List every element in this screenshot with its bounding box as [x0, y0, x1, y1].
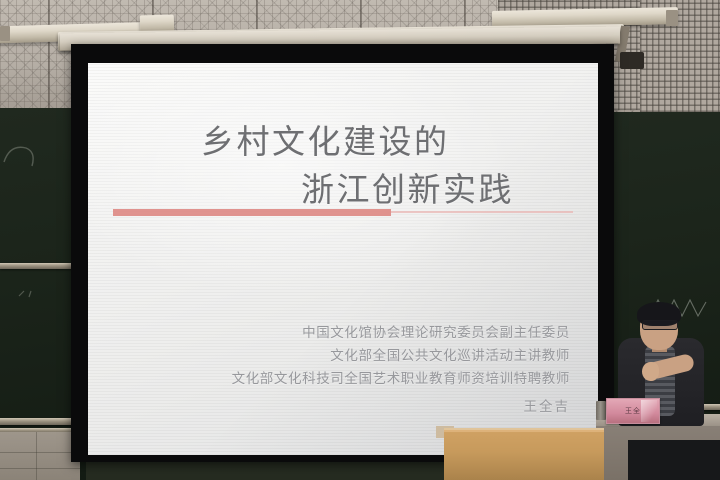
ceiling-seam — [48, 0, 50, 118]
slide-presenter-name: 王全吉 — [524, 395, 571, 415]
speaker-hand — [642, 362, 659, 381]
light-fixture-endcap — [666, 10, 678, 26]
speaker-glasses — [642, 320, 678, 330]
projector-body — [620, 52, 644, 69]
floor-tile-seam — [0, 452, 80, 453]
slide-subtitle-line-2: 文化部全国公共文化巡讲活动主讲教师 — [330, 344, 570, 364]
floor-tile-seam — [0, 468, 80, 469]
title-accent-rule — [391, 211, 573, 213]
placard-glare — [641, 400, 657, 422]
slide-subtitle-line-3: 文化部文化科技司全国艺术职业教育师资培训特聘教师 — [232, 367, 570, 387]
floor-tile-seam — [36, 432, 37, 480]
thermos-cup — [596, 401, 606, 420]
floor-area — [0, 432, 80, 480]
slide-title-line-1: 乡村文化建设的 — [201, 115, 450, 163]
chalk-scribble — [2, 142, 42, 172]
light-fixture-endcap — [0, 26, 10, 41]
name-placard: 王全 — [606, 398, 660, 424]
podium-front-panel — [628, 440, 720, 480]
slide-title-line-2: 浙江创新实践 — [301, 163, 514, 211]
chalk-scribble — [18, 288, 42, 300]
presentation-slide: 乡村文化建设的 浙江创新实践 中国文化馆协会理论研究委员会副主任委员 文化部全国… — [88, 63, 598, 455]
slide-subtitle-line-1: 中国文化馆协会理论研究委员会副主任委员 — [302, 321, 570, 341]
wooden-lectern — [444, 430, 604, 480]
title-accent-bar — [113, 209, 391, 216]
chalk-rail — [0, 263, 80, 269]
lecture-hall-photo: Qiuzhuo 乡村文化建设的 浙江创新实践 中国文化馆协会理论研究委员会副主任… — [0, 0, 720, 480]
name-placard-text: 王全 — [625, 406, 641, 416]
chalk-rail — [0, 418, 82, 425]
